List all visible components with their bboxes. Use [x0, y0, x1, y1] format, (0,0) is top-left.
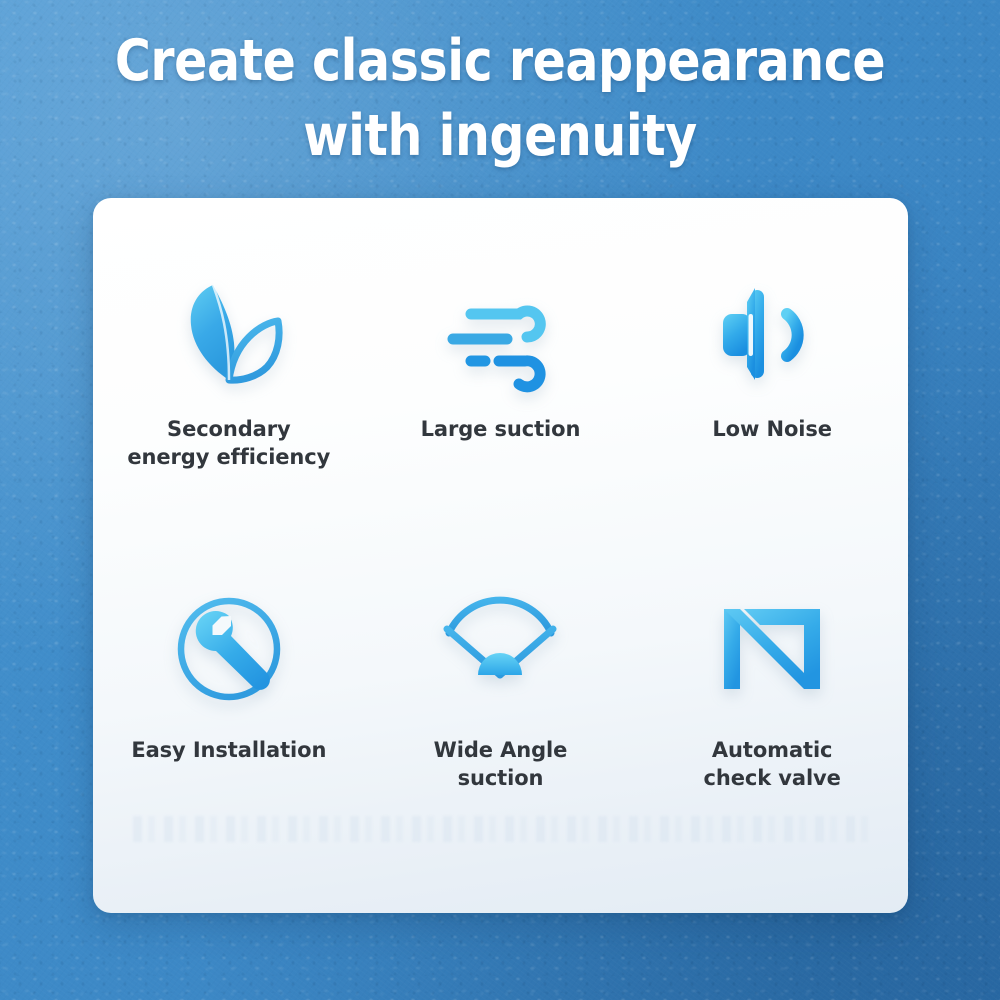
feature-item-automatic-check-valve: Automatic check valve	[636, 553, 908, 883]
feature-label: Wide Angle suction	[434, 736, 568, 792]
page-title-line-2: with ingenuity	[70, 99, 930, 174]
feature-item-low-noise: Low Noise	[636, 198, 908, 553]
wrench-in-circle-icon	[164, 591, 294, 706]
page-title: Create classic reappearance with ingenui…	[70, 24, 930, 174]
feature-label-line-1: Wide Angle	[434, 738, 568, 762]
feature-label-line-1: Easy Installation	[131, 738, 326, 762]
feature-label-line-2: energy efficiency	[127, 443, 330, 471]
check-valve-flap-icon	[707, 591, 837, 706]
feature-item-wide-angle-suction: Wide Angle suction	[365, 553, 637, 883]
feature-label-line-1: Secondary	[167, 417, 291, 441]
feature-label: Low Noise	[712, 415, 832, 443]
feature-item-large-suction: Large suction	[365, 198, 637, 553]
features-grid: Secondary energy efficiency	[93, 198, 908, 913]
leaf-icon	[164, 276, 294, 391]
speaker-low-volume-icon	[707, 276, 837, 391]
feature-label-line-1: Automatic	[712, 738, 833, 762]
feature-label: Automatic check valve	[704, 736, 841, 792]
feature-label-line-1: Low Noise	[712, 417, 832, 441]
feature-item-secondary-energy-efficiency: Secondary energy efficiency	[93, 198, 365, 553]
wide-angle-protractor-icon	[435, 591, 565, 706]
feature-label: Easy Installation	[131, 736, 326, 764]
wind-airflow-icon	[435, 276, 565, 391]
feature-label-line-1: Large suction	[421, 417, 581, 441]
feature-label-line-2: check valve	[704, 764, 841, 792]
feature-label-line-2: suction	[434, 764, 568, 792]
feature-label: Large suction	[421, 415, 581, 443]
feature-item-easy-installation: Easy Installation	[93, 553, 365, 883]
page-title-line-1: Create classic reappearance	[70, 24, 930, 99]
features-card: Secondary energy efficiency	[93, 198, 908, 913]
product-feature-poster: Create classic reappearance with ingenui…	[0, 0, 1000, 1000]
feature-label: Secondary energy efficiency	[127, 415, 330, 471]
